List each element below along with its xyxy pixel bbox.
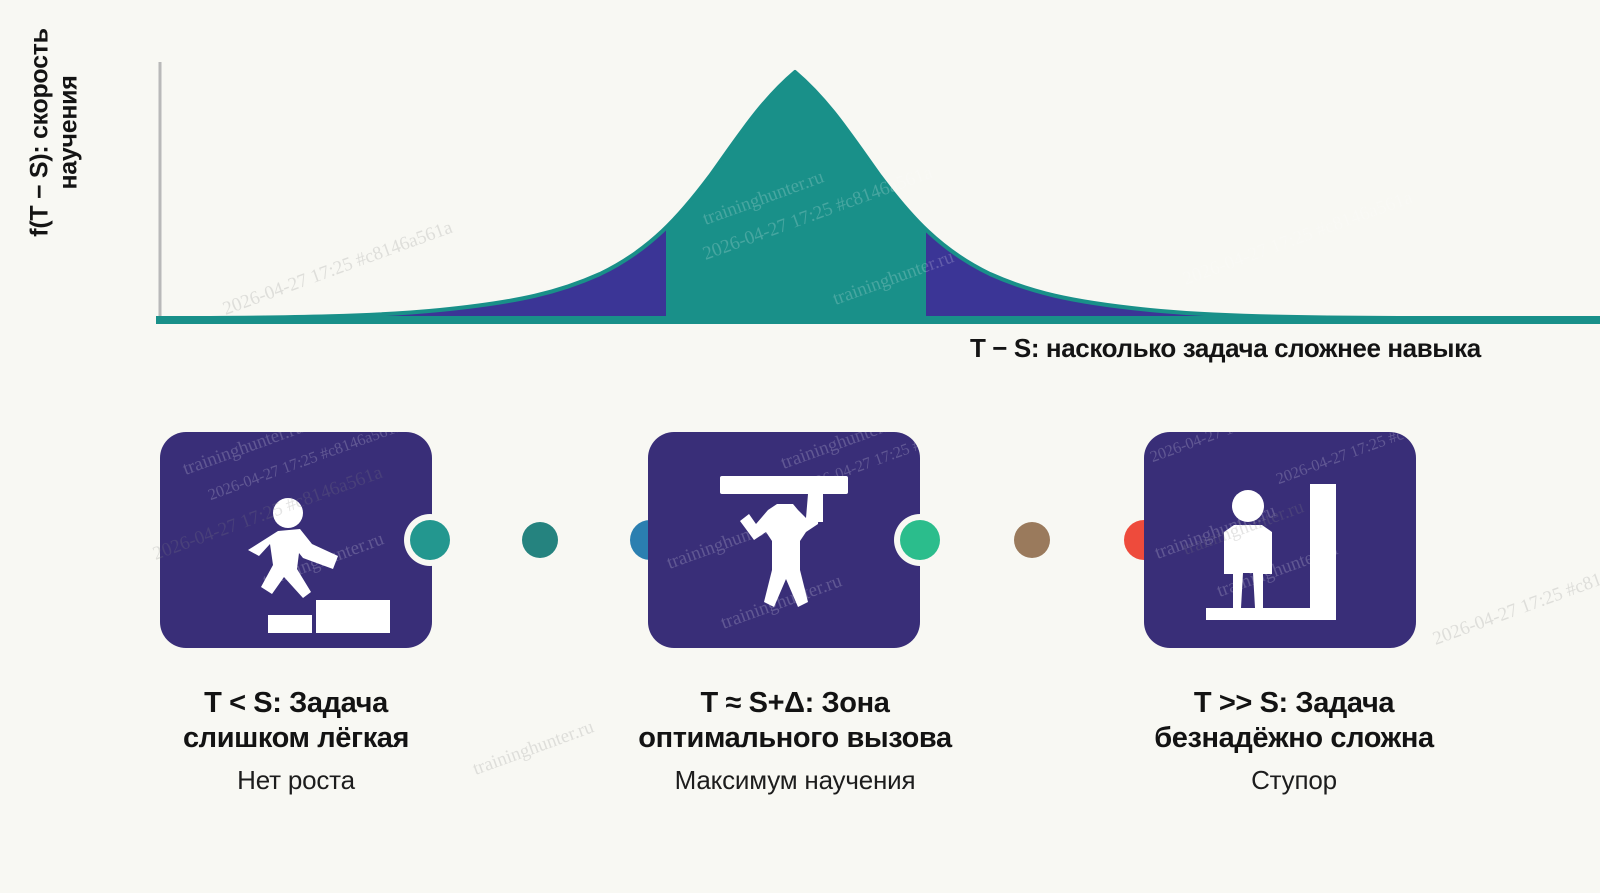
caption-subtitle: Максимум научения xyxy=(600,765,990,796)
caption-title-line2: безнадёжно сложна xyxy=(1108,721,1480,756)
connector-dot-start[interactable] xyxy=(900,520,940,560)
stage-card-too-easy[interactable]: traininghunter.ru 2026-04-27 17:25 #c814… xyxy=(160,432,432,648)
caption-subtitle: Нет роста xyxy=(136,765,456,796)
connector-optimal-to-hard xyxy=(888,432,1176,648)
stage-card-optimal[interactable]: traininghunter.ru 2026-04-27 17:25 #c814… xyxy=(648,432,920,648)
learning-rate-chart: f(T − S): скорость научения T − S: наско… xyxy=(0,0,1600,400)
caption-title: T < S: Задача слишком лёгкая xyxy=(136,686,456,756)
caption-title-line1: T ≈ S+Δ: Зона xyxy=(600,686,990,721)
caption-title: T >> S: Задача безнадёжно сложна xyxy=(1108,686,1480,756)
caption-too-hard: T >> S: Задача безнадёжно сложна Ступор xyxy=(1108,686,1480,796)
y-axis-label: f(T − S): скорость научения xyxy=(26,3,83,263)
caption-title-line2: слишком лёгкая xyxy=(136,721,456,756)
caption-subtitle: Ступор xyxy=(1108,765,1480,796)
x-axis-label: T − S: насколько задача сложнее навыка xyxy=(970,333,1481,364)
person-walking-up-steps-icon xyxy=(160,432,432,648)
caption-title-line1: T < S: Задача xyxy=(136,686,456,721)
caption-too-easy: T < S: Задача слишком лёгкая Нет роста xyxy=(136,686,456,796)
caption-title-line2: оптимального вызова xyxy=(600,721,990,756)
caption-title-line1: T >> S: Задача xyxy=(1108,686,1480,721)
infographic-canvas: f(T − S): скорость научения T − S: наско… xyxy=(0,0,1600,893)
person-facing-wall-icon xyxy=(1144,432,1416,648)
stage-captions-row: T < S: Задача слишком лёгкая Нет роста T… xyxy=(0,686,1600,846)
connector-dot-middle[interactable] xyxy=(522,522,558,558)
caption-optimal: T ≈ S+Δ: Зона оптимального вызова Максим… xyxy=(600,686,990,796)
region-optimal-band xyxy=(160,72,1600,318)
connector-easy-to-optimal xyxy=(400,432,680,648)
person-lifting-bar-icon xyxy=(648,432,920,648)
caption-title: T ≈ S+Δ: Зона оптимального вызова xyxy=(600,686,990,756)
stage-cards-row: traininghunter.ru 2026-04-27 17:25 #c814… xyxy=(0,418,1600,678)
connector-dot-start[interactable] xyxy=(410,520,450,560)
stage-card-too-hard[interactable]: 2026-04-27 17:25 #c8146a561a traininghun… xyxy=(1144,432,1416,648)
connector-dot-middle[interactable] xyxy=(1014,522,1050,558)
